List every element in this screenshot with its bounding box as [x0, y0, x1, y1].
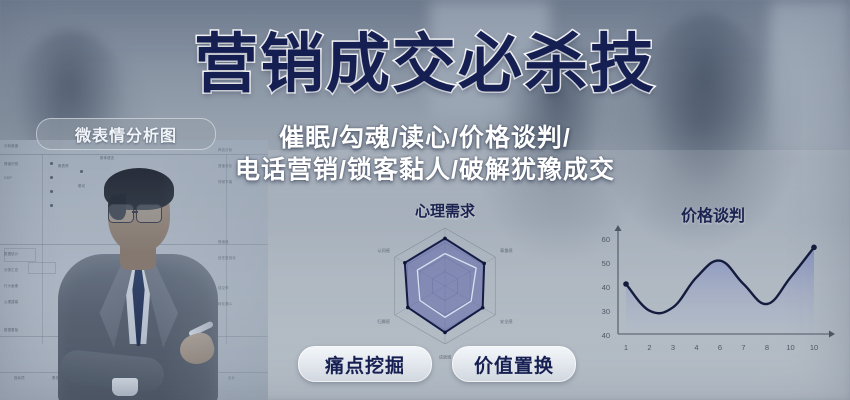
line-chart-y-arrow: [615, 225, 622, 231]
x-tick-label: 1: [624, 343, 628, 352]
y-tick-label: 60: [602, 235, 610, 244]
x-tick-label: 6: [718, 343, 722, 352]
radar-axis-label: 安全感: [500, 318, 513, 325]
x-tick-label: 3: [671, 343, 675, 352]
subtitle-line-1: 催眠/勾魂/读心/价格谈判/: [0, 122, 850, 154]
y-tick-label: 40: [602, 283, 610, 292]
x-tick-label: 8: [765, 343, 769, 352]
pill-pain-point-label: 痛点挖掘: [325, 351, 405, 378]
radar-chart: 心理需求 情感尊重感安全感成就感归属感认同感: [330, 200, 560, 365]
radar-axis-label: 尊重感: [500, 247, 513, 254]
radar-axis-label: 情感: [441, 216, 449, 219]
pill-pain-point[interactable]: 痛点挖掘: [298, 346, 432, 382]
line-chart-end-point: [811, 245, 817, 251]
radar-axis-label: 归属感: [377, 318, 390, 325]
x-tick-label: 4: [694, 343, 698, 352]
line-chart: 价格谈判 12346781010 6050403040: [588, 200, 838, 380]
subtitle: 催眠/勾魂/读心/价格谈判/ 电话营销/锁客黏人/破解犹豫成交: [0, 122, 850, 186]
marketing-banner: 分析维度 情绪识别 GDP 数据统计 分类汇总 行为画像 心理建模 数据看板 微…: [0, 0, 850, 400]
y-tick-label: 30: [602, 307, 610, 316]
line-chart-start-point: [623, 281, 629, 287]
headline-text: 营销成交必杀技: [194, 28, 656, 100]
keyword-pill-row: 痛点挖掘 价值置换: [298, 346, 574, 380]
x-tick-label: 2: [647, 343, 651, 352]
radar-axis-label: 认同感: [377, 247, 390, 254]
x-tick-label: 10: [810, 343, 818, 352]
subtitle-line-2: 电话营销/锁客黏人/破解犹豫成交: [0, 154, 850, 186]
line-chart-svg: 12346781010 6050403040: [588, 222, 838, 380]
line-chart-x-arrow: [829, 331, 835, 338]
page-title: 营销成交必杀技: [0, 32, 850, 96]
radar-chart-svg: 情感尊重感安全感成就感归属感认同感: [330, 216, 560, 364]
pill-value-exchange-label: 价值置换: [474, 351, 554, 378]
x-tick-label: 7: [741, 343, 745, 352]
line-chart-y-tick-labels: 6050403040: [602, 235, 610, 340]
y-tick-label: 40: [602, 331, 610, 340]
pill-value-exchange[interactable]: 价值置换: [452, 346, 576, 382]
x-tick-label: 10: [786, 343, 794, 352]
y-tick-label: 50: [602, 259, 610, 268]
line-chart-x-tick-labels: 12346781010: [624, 343, 818, 352]
radar-series-primary: [405, 238, 484, 332]
